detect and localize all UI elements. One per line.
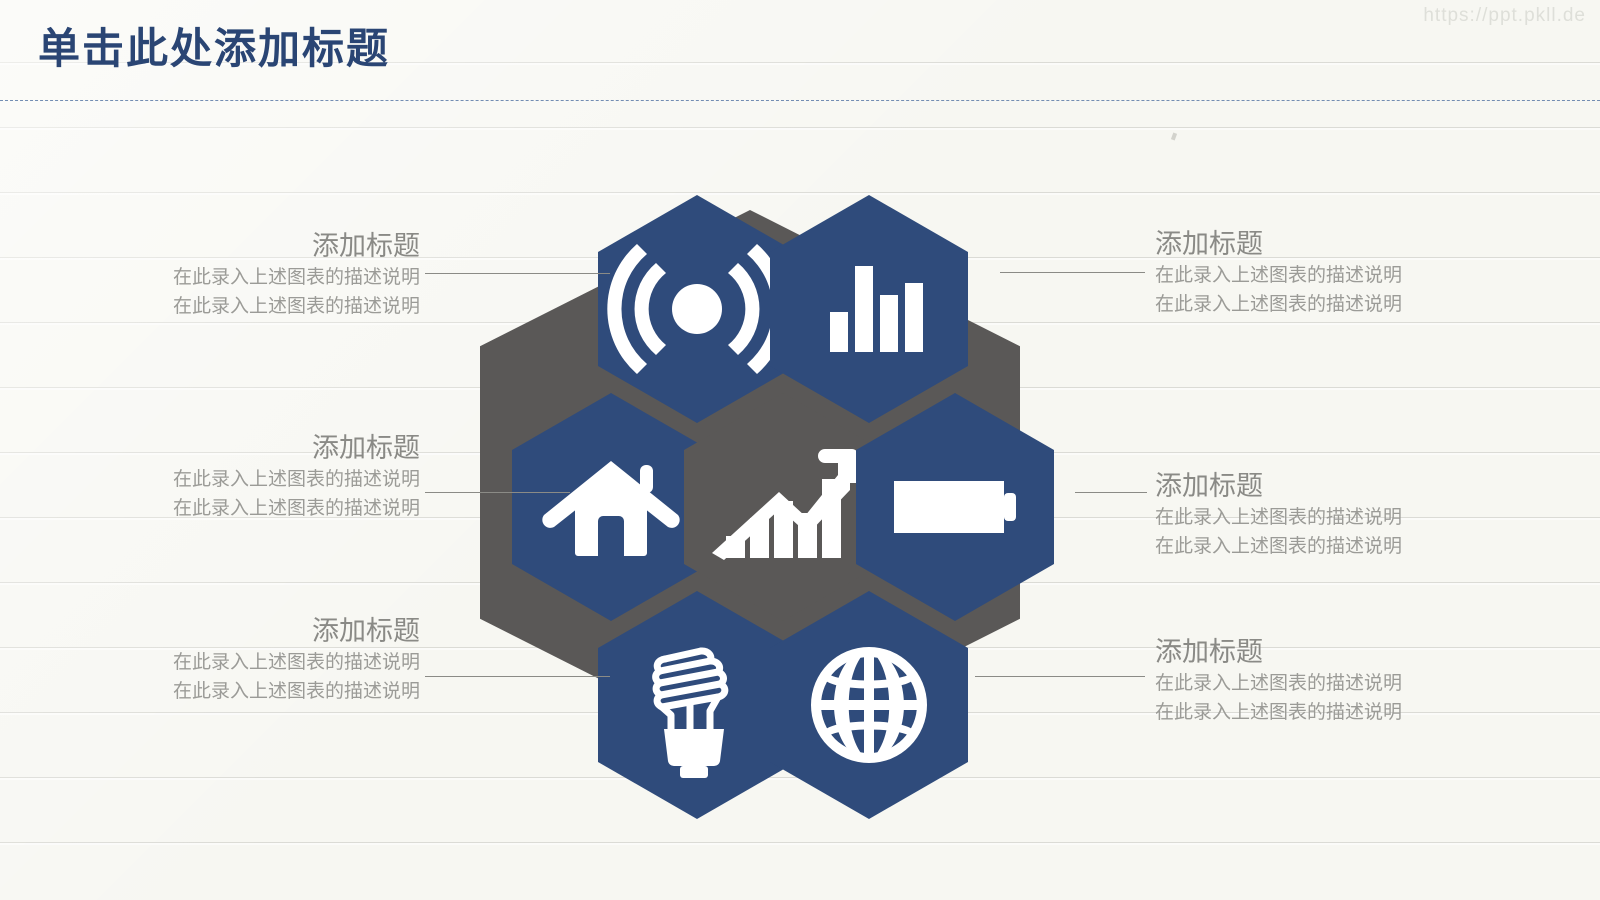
label-desc-line-1: 在此录入上述图表的描述说明 xyxy=(1155,262,1535,291)
connector-line-6 xyxy=(975,676,1145,677)
label-title: 添加标题 xyxy=(60,615,420,649)
label-group-5: 添加标题 在此录入上述图表的描述说明 在此录入上述图表的描述说明 xyxy=(1155,470,1535,562)
label-desc-line-2: 在此录入上述图表的描述说明 xyxy=(1155,533,1535,562)
label-group-6: 添加标题 在此录入上述图表的描述说明 在此录入上述图表的描述说明 xyxy=(1155,636,1535,728)
label-desc-line-1: 在此录入上述图表的描述说明 xyxy=(60,264,420,293)
label-desc-line-2: 在此录入上述图表的描述说明 xyxy=(60,495,420,524)
watermark-url: https://ppt.pkll.de xyxy=(1423,5,1586,27)
label-desc-line-1: 在此录入上述图表的描述说明 xyxy=(1155,670,1535,699)
label-title: 添加标题 xyxy=(1155,228,1535,262)
label-group-1: 添加标题 在此录入上述图表的描述说明 在此录入上述图表的描述说明 xyxy=(60,230,420,322)
label-desc-line-1: 在此录入上述图表的描述说明 xyxy=(60,466,420,495)
connector-line-4 xyxy=(1000,272,1145,273)
connector-line-5 xyxy=(1075,492,1147,493)
label-group-3: 添加标题 在此录入上述图表的描述说明 在此录入上述图表的描述说明 xyxy=(60,615,420,707)
page-title: 单击此处添加标题 xyxy=(38,24,390,74)
label-group-2: 添加标题 在此录入上述图表的描述说明 在此录入上述图表的描述说明 xyxy=(60,432,420,524)
connector-line-2 xyxy=(425,492,570,493)
label-title: 添加标题 xyxy=(60,432,420,466)
label-group-4: 添加标题 在此录入上述图表的描述说明 在此录入上述图表的描述说明 xyxy=(1155,228,1535,320)
header-divider xyxy=(0,100,1600,101)
connector-line-3 xyxy=(425,676,610,677)
label-title: 添加标题 xyxy=(60,230,420,264)
label-desc-line-2: 在此录入上述图表的描述说明 xyxy=(1155,291,1535,320)
label-desc-line-1: 在此录入上述图表的描述说明 xyxy=(60,649,420,678)
header: 单击此处添加标题 https://ppt.pkll.de xyxy=(0,0,1600,101)
label-title: 添加标题 xyxy=(1155,470,1535,504)
label-desc-line-2: 在此录入上述图表的描述说明 xyxy=(60,678,420,707)
label-desc-line-2: 在此录入上述图表的描述说明 xyxy=(60,293,420,322)
connector-line-1 xyxy=(425,273,610,274)
hexagon-cluster xyxy=(470,185,1100,780)
decorative-speck xyxy=(1171,133,1177,141)
label-desc-line-1: 在此录入上述图表的描述说明 xyxy=(1155,504,1535,533)
label-title: 添加标题 xyxy=(1155,636,1535,670)
label-desc-line-2: 在此录入上述图表的描述说明 xyxy=(1155,699,1535,728)
